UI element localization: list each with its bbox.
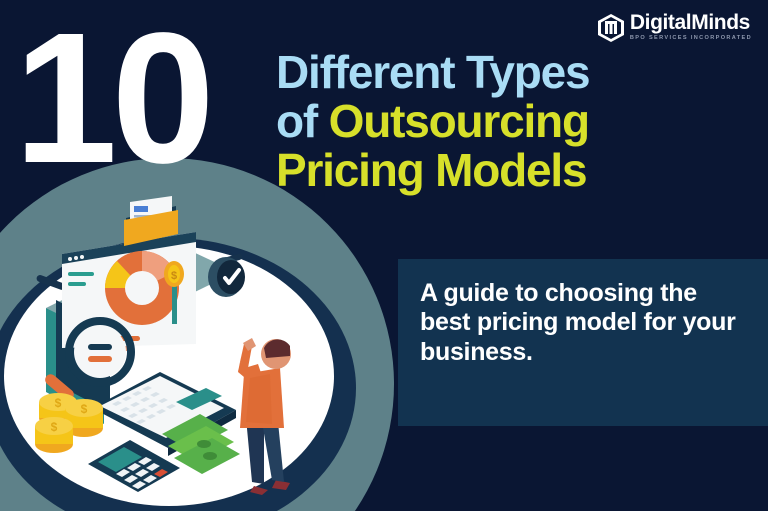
svg-text:$: $ [81, 402, 88, 416]
data-analysis-pricing-illustration: $ $ $ [0, 196, 340, 496]
logo-tagline: BPO SERVICES INCORPORATED [630, 36, 752, 42]
headline-block: Different Types of Outsourcing Pricing M… [276, 50, 762, 193]
brand-logo[interactable]: DigitalMinds BPO SERVICES INCORPORATED [598, 12, 752, 42]
subtitle-text: A guide to choosing the best pricing mod… [420, 279, 746, 367]
donut-chart [105, 251, 179, 325]
headline-line-1: Different Types [276, 50, 762, 95]
headline-line-2-prefix: of [276, 95, 329, 147]
headline-line-2: of Outsourcing [276, 99, 762, 144]
headline-line-1-text: Different Types [276, 46, 589, 98]
headline-number: 10 [14, 6, 209, 192]
digitalminds-diamond-icon [598, 14, 624, 42]
calculator-icon [88, 440, 180, 492]
check-badge-icon [208, 257, 245, 297]
svg-text:$: $ [55, 396, 62, 410]
poster-canvas: $ $ $ [0, 0, 768, 511]
subtitle-box: A guide to choosing the best pricing mod… [398, 259, 768, 426]
coin-stack: $ $ $ [35, 393, 103, 453]
headline-line-3: Pricing Models [276, 148, 762, 193]
headline-line-3-text: Pricing Models [276, 144, 586, 196]
svg-text:$: $ [51, 420, 58, 434]
logo-wordmark: DigitalMinds [630, 12, 752, 33]
standing-person [238, 338, 291, 495]
svg-text:$: $ [171, 270, 177, 282]
headline-line-2-accent: Outsourcing [329, 95, 589, 147]
